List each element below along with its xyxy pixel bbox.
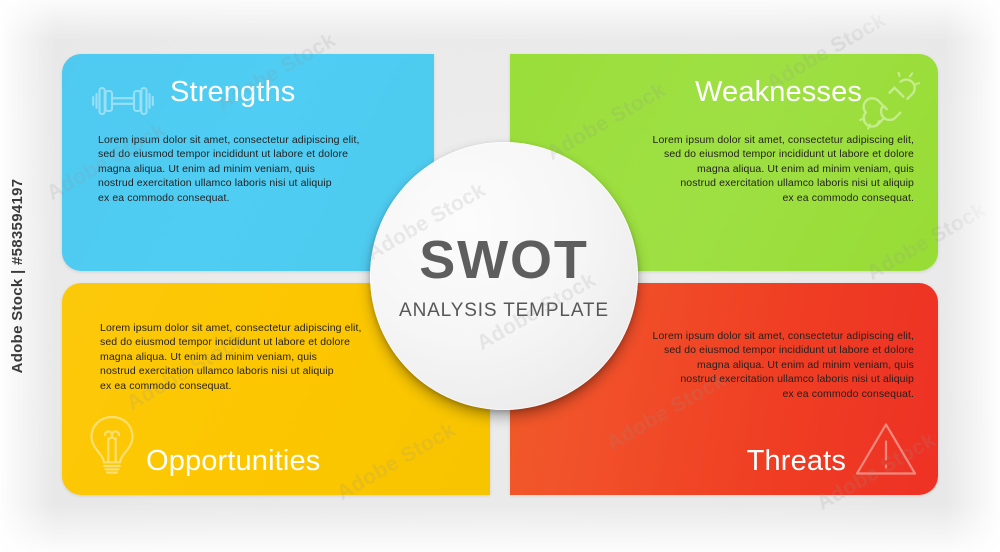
- broken-chain-link-icon: [858, 72, 920, 137]
- stock-id-label: Adobe Stock | #583594197: [0, 0, 34, 552]
- quadrant-body-threats: Lorem ipsum dolor sit amet, consectetur …: [614, 329, 914, 401]
- quadrant-title-threats: Threats: [747, 445, 846, 478]
- swot-subtitle: ANALYSIS TEMPLATE: [399, 301, 609, 320]
- quadrant-title-strengths: Strengths: [170, 76, 295, 109]
- quadrant-body-strengths: Lorem ipsum dolor sit amet, consectetur …: [98, 133, 398, 205]
- quadrant-title-weaknesses: Weaknesses: [695, 76, 862, 109]
- center-swot-badge[interactable]: SWOT ANALYSIS TEMPLATE: [370, 142, 638, 410]
- quadrant-title-opportunities: Opportunities: [146, 445, 320, 478]
- warning-triangle-icon: [854, 420, 918, 483]
- swot-template-canvas: Strengths Lorem ipsum dolor sit amet, co…: [0, 0, 1000, 552]
- swot-title: SWOT: [419, 233, 589, 287]
- lightbulb-icon: [86, 414, 138, 481]
- dumbbell-icon: [90, 80, 156, 127]
- quadrant-body-weaknesses: Lorem ipsum dolor sit amet, consectetur …: [614, 133, 914, 205]
- quadrant-body-opportunities: Lorem ipsum dolor sit amet, consectetur …: [100, 321, 400, 393]
